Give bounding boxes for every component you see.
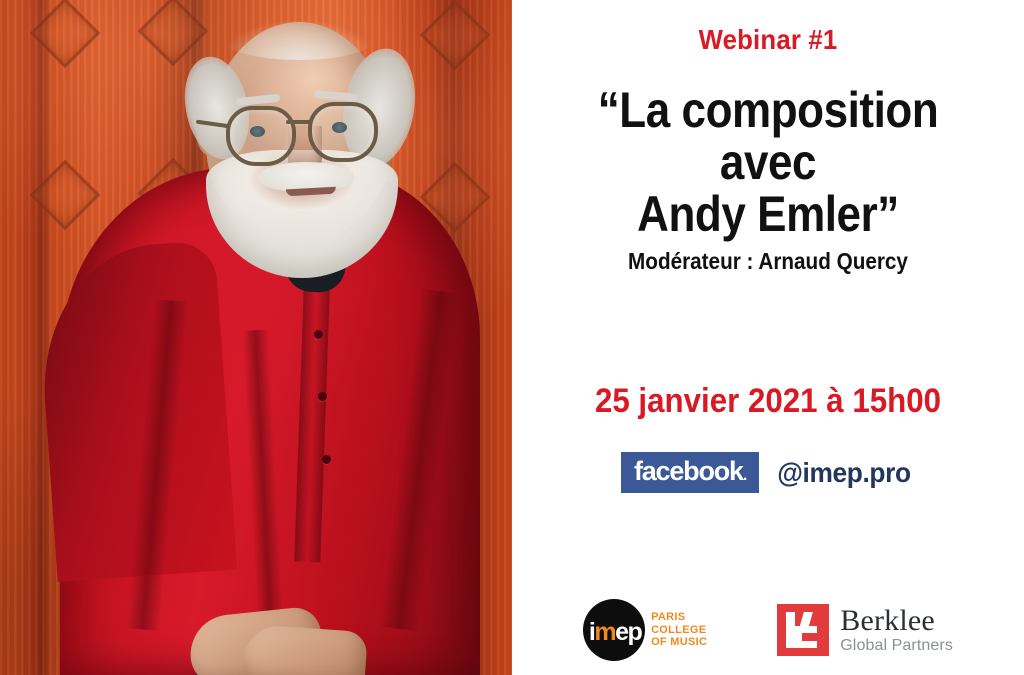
berklee-name: Berklee: [840, 606, 953, 636]
event-datetime: 25 janvier 2021 à 15h00: [532, 382, 1003, 421]
imep-logo: imep PARIS COLLEGE OF MUSIC: [583, 599, 707, 661]
webinar-poster: Webinar #1 “La composition avec Andy Eml…: [0, 0, 1024, 675]
glasses-lens: [226, 106, 296, 166]
info-panel: Webinar #1 “La composition avec Andy Eml…: [512, 0, 1024, 675]
facebook-wordmark: facebook: [634, 456, 743, 486]
imep-letters-ep: ep: [615, 618, 641, 646]
imep-subtitle-line-1: PARIS: [651, 611, 707, 624]
berklee-logo: Berklee Global Partners: [777, 604, 953, 656]
imep-letter-m: m: [594, 618, 615, 646]
berklee-tagline: Global Partners: [840, 638, 953, 654]
portrait-photo: [0, 0, 512, 675]
webinar-label: Webinar #1: [532, 24, 1003, 56]
glasses-bridge: [286, 120, 312, 124]
hand: [242, 624, 368, 675]
moderator-line: Modérateur : Arnaud Quercy: [545, 248, 991, 275]
facebook-trailing-dot: .: [743, 467, 746, 484]
berklee-mark-stem: [786, 612, 795, 648]
shirt-button: [314, 330, 323, 339]
social-row: facebook. @imep.pro: [512, 452, 1024, 493]
facebook-handle[interactable]: @imep.pro: [777, 457, 910, 489]
title-line-1: “La composition: [550, 84, 986, 136]
glasses-lens: [308, 102, 378, 162]
person-figure: [0, 0, 512, 675]
facebook-logo[interactable]: facebook.: [621, 452, 759, 493]
imep-subtitle-line-2: COLLEGE: [651, 624, 707, 637]
imep-wordmark: imep: [589, 620, 641, 645]
berklee-text-block: Berklee Global Partners: [840, 606, 953, 654]
imep-circle-mark: imep: [583, 599, 645, 661]
imep-subtitle-line-3: OF MUSIC: [651, 636, 707, 649]
partner-logos: imep PARIS COLLEGE OF MUSIC Berklee Glob…: [512, 599, 1024, 661]
title-line-2: avec: [550, 136, 986, 188]
hair: [224, 20, 374, 60]
berklee-mark-icon: [777, 604, 829, 656]
shirt-button: [322, 455, 331, 464]
title-line-3: Andy Emler”: [550, 188, 986, 240]
event-title: “La composition avec Andy Emler” Modérat…: [520, 84, 1016, 275]
berklee-mark-bowl: [795, 626, 817, 648]
imep-subtitle: PARIS COLLEGE OF MUSIC: [651, 611, 707, 650]
shirt-button: [318, 392, 327, 401]
